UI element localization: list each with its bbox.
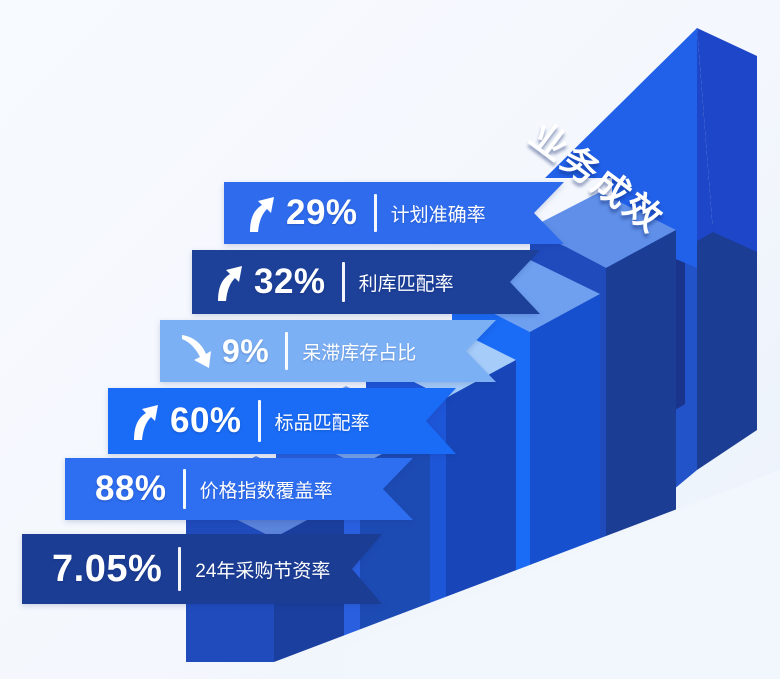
metric-value: 60% <box>170 401 242 441</box>
metric-value: 88% <box>95 469 167 509</box>
metric-bar-5[interactable]: 7.05% 24年采购节资率 <box>22 534 382 604</box>
metric-bar-4[interactable]: 88% 价格指数覆盖率 <box>65 458 413 520</box>
arrow-up-icon <box>238 191 282 235</box>
arrow-up-icon <box>206 260 250 304</box>
metric-bar-3[interactable]: 60% 标品匹配率 <box>108 388 456 454</box>
metric-value: 32% <box>254 262 326 302</box>
metric-label: 标品匹配率 <box>275 408 370 435</box>
metric-label: 呆滞库存占比 <box>302 338 416 365</box>
metric-value: 7.05% <box>52 548 162 591</box>
value-label-divider <box>374 194 377 232</box>
value-label-divider <box>178 547 181 591</box>
arrow-up-icon <box>122 399 166 443</box>
metric-label: 24年采购节资率 <box>195 556 330 583</box>
metric-label: 利库匹配率 <box>359 269 454 296</box>
metric-bar-1[interactable]: 32% 利库匹配率 <box>192 250 540 314</box>
metric-label: 价格指数覆盖率 <box>200 476 333 503</box>
value-label-divider <box>258 400 261 442</box>
infographic-canvas: 29% 计划准确率 32% 利库匹配率 <box>0 0 780 679</box>
metric-value: 9% <box>222 333 269 370</box>
metric-value: 29% <box>286 193 358 233</box>
value-label-divider <box>285 332 288 370</box>
value-label-divider <box>342 262 345 302</box>
metric-bar-0[interactable]: 29% 计划准确率 <box>224 182 564 244</box>
metric-bar-2[interactable]: 9% 呆滞库存占比 <box>160 320 496 382</box>
arrow-down-icon <box>174 329 218 373</box>
value-label-divider <box>183 469 186 509</box>
metric-label: 计划准确率 <box>391 200 486 227</box>
